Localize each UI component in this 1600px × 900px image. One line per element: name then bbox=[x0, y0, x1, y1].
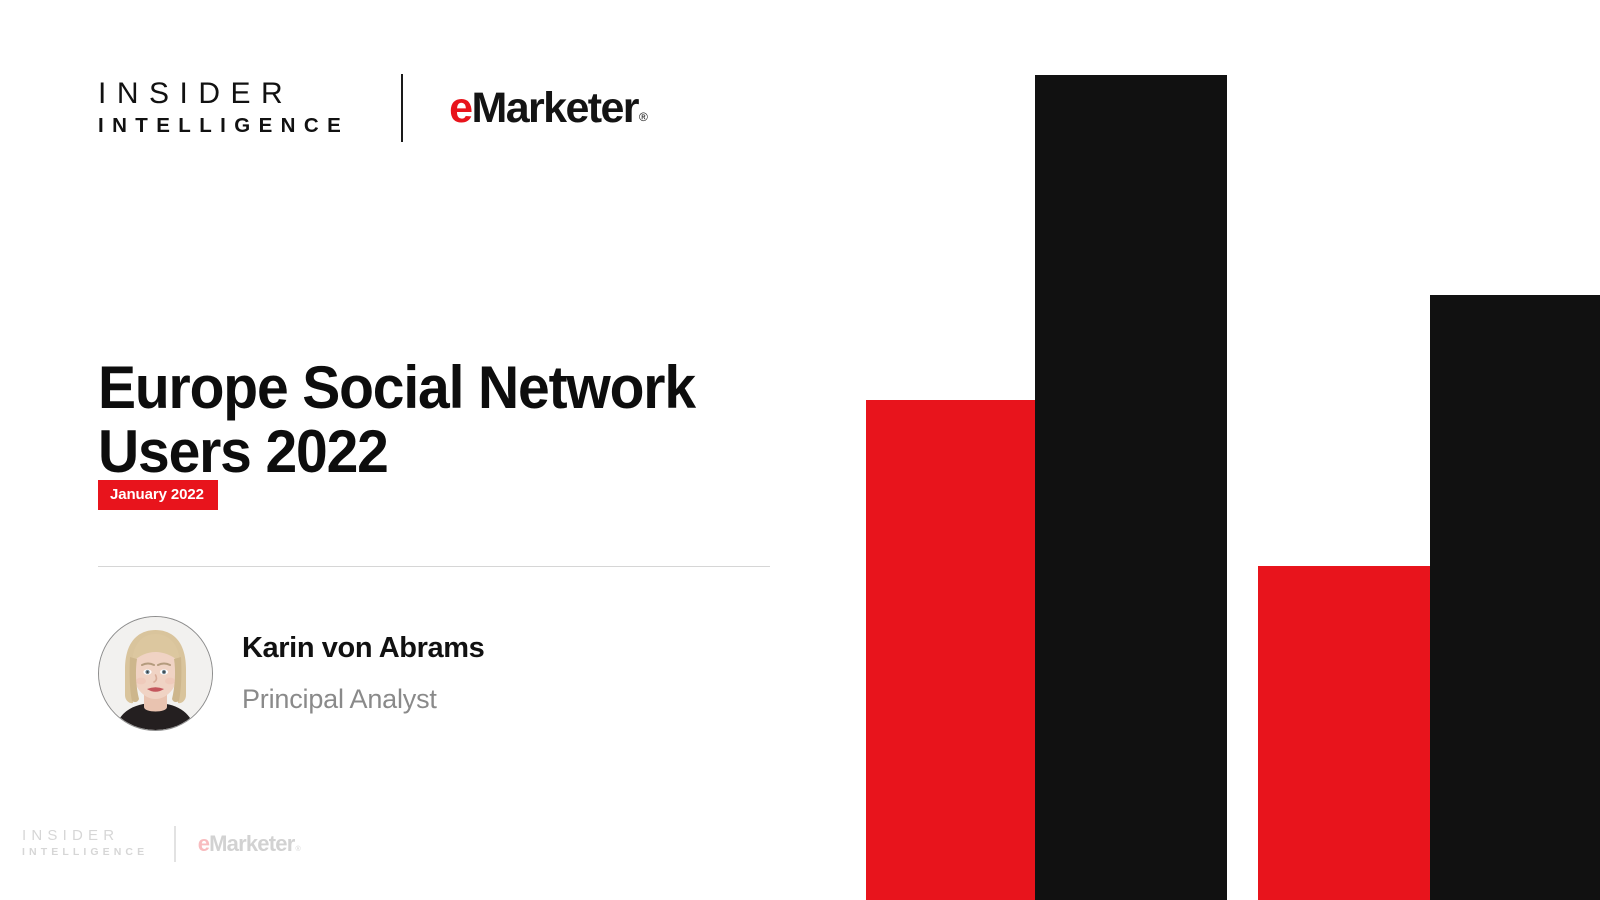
chart-bar-group-2-black bbox=[1430, 295, 1600, 900]
footer-logo-lockup: INSIDER INTELLIGENCE eMarketer® bbox=[22, 824, 301, 864]
footer-intelligence-wordmark: INTELLIGENCE bbox=[22, 846, 148, 860]
insider-wordmark: INSIDER bbox=[98, 78, 349, 110]
author-role: Principal Analyst bbox=[242, 683, 484, 715]
header-logo-lockup: INSIDER INTELLIGENCE eMarketer® bbox=[98, 72, 648, 144]
page-title: Europe Social Network Users 2022 bbox=[98, 356, 763, 483]
registered-trademark-icon: ® bbox=[639, 111, 648, 123]
emarketer-wordmark: Marketer bbox=[471, 87, 637, 130]
footer-emarketer-logo: eMarketer® bbox=[198, 833, 301, 855]
chart-bar-group-2-red bbox=[1258, 566, 1430, 900]
footer-logo-divider bbox=[174, 826, 176, 862]
section-divider bbox=[98, 566, 770, 567]
footer-insider-wordmark: INSIDER bbox=[22, 828, 148, 845]
intelligence-wordmark: INTELLIGENCE bbox=[98, 113, 349, 139]
author-block: Karin von Abrams Principal Analyst bbox=[98, 616, 484, 731]
chart-bar-group-1-red bbox=[866, 400, 1035, 900]
chart-bar-group-1-black bbox=[1035, 75, 1227, 900]
emarketer-logo: eMarketer® bbox=[449, 87, 648, 130]
emarketer-e-glyph: e bbox=[449, 87, 471, 130]
avatar bbox=[98, 616, 213, 731]
author-text: Karin von Abrams Principal Analyst bbox=[242, 631, 484, 715]
footer-emarketer-e-glyph: e bbox=[198, 833, 209, 855]
author-name: Karin von Abrams bbox=[242, 631, 484, 666]
footer-emarketer-wordmark: Marketer bbox=[209, 833, 294, 855]
date-badge: January 2022 bbox=[98, 480, 218, 510]
insider-intelligence-logo: INSIDER INTELLIGENCE bbox=[98, 75, 349, 141]
footer-registered-trademark-icon: ® bbox=[295, 846, 300, 853]
footer-insider-intelligence-logo: INSIDER INTELLIGENCE bbox=[22, 828, 148, 860]
presentation-slide: INSIDER INTELLIGENCE eMarketer® Europe S… bbox=[0, 0, 1600, 900]
logo-divider bbox=[401, 74, 403, 142]
